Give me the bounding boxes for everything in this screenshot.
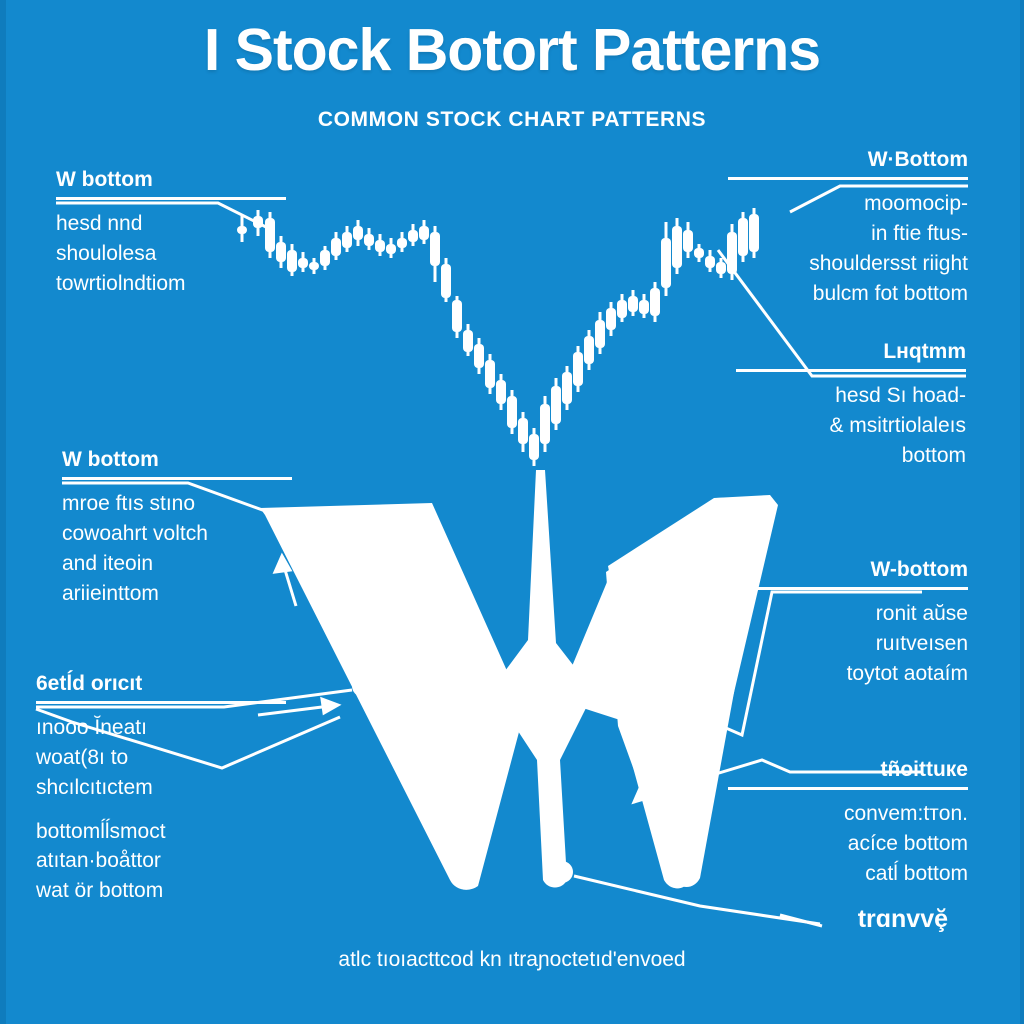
annotation-mid-left-body: mroe ftıs stınocowoahrt voltchand iteoin… — [62, 489, 292, 608]
candle-body — [419, 226, 429, 240]
annotation-bottom-right-body: convem:tтon.acíce bottomcatĺ bottom — [728, 799, 968, 888]
candle-wick — [313, 258, 316, 274]
candle-wick — [665, 222, 668, 296]
candle-wick — [676, 218, 679, 274]
candle-wick — [379, 234, 382, 256]
candle-wick — [478, 338, 481, 374]
candle-body — [430, 232, 440, 266]
annotation-mid-right-lower-body: ronit aŭseruıtveısentoytot aotaím — [738, 599, 968, 688]
candle-wick — [500, 374, 503, 410]
candle-body — [540, 404, 550, 444]
candle-wick — [698, 244, 701, 262]
pattern-markers[interactable] — [352, 675, 668, 883]
page-subtitle: COMMON STOCK CHART PATTERNS — [0, 108, 1024, 132]
candle-wick — [401, 232, 404, 252]
down-arrow-lower-right — [638, 745, 672, 796]
candle-body — [474, 344, 484, 368]
candle-wick — [577, 346, 580, 392]
right-arrow-left-shoulder-head — [322, 699, 338, 713]
candle-body — [606, 308, 616, 330]
left-bottom-marker — [452, 861, 474, 883]
left-edge-strip — [0, 0, 6, 1024]
candle-body — [452, 300, 462, 332]
candle-wick — [522, 412, 525, 452]
candle-body — [375, 240, 385, 252]
candle-body — [397, 238, 407, 248]
candle-body — [298, 258, 308, 268]
candle-wick — [555, 378, 558, 430]
candle-body — [309, 262, 319, 270]
candle-body — [683, 230, 693, 252]
candle-body — [529, 434, 539, 460]
annotation-top-right-rule — [728, 177, 968, 180]
annotation-mid-left-rule — [62, 477, 292, 480]
candle-body — [584, 336, 594, 364]
candle-body — [705, 256, 715, 268]
annotation-lower-left-heading: 6etĺd orıcıt — [36, 672, 286, 696]
annotation-top-left-heading: W bottom — [56, 168, 286, 192]
candle-body — [331, 238, 341, 256]
annotation-top-left-body: hesd nndshoulolesatowrtiolndtiom — [56, 209, 286, 298]
bottom-right-label-text: trɑnvvḝ — [748, 905, 948, 934]
down-arrow-lower-right-head — [634, 786, 651, 802]
candle-body — [441, 264, 451, 298]
candle-body — [650, 288, 660, 316]
candle-body — [617, 300, 627, 318]
annotation-bottom-right-rule — [728, 787, 968, 790]
candle-wick — [335, 232, 338, 260]
candle-body — [507, 396, 517, 428]
annotation-bottom-right: tñoittuкe convem:tтon.acíce bottomcatĺ b… — [728, 758, 968, 889]
annotation-lower-left-rule — [36, 701, 286, 704]
candle-body — [672, 226, 682, 268]
page-title: I Stock Botort Patterns — [0, 20, 1024, 82]
candle-wick — [511, 390, 514, 434]
candle-wick — [632, 290, 635, 316]
annotation-mid-right-lower: W-bottom ronit aŭseruıtveısentoytot aota… — [738, 558, 968, 689]
candle-wick — [533, 428, 536, 466]
annotation-lower-left: 6etĺd orıcıt ınooo Ĭneatıwoat(8ı toshcıl… — [36, 672, 286, 906]
candle-wick — [643, 294, 646, 318]
candle-body — [661, 238, 671, 288]
candle-wick — [302, 252, 305, 272]
annotation-lower-left-body-bottom: bottomĺĺsmoctatıtan·boåttorwat ör bottom — [36, 817, 286, 906]
annotation-top-left: W bottom hesd nndshoulolesatowrtiolndtio… — [56, 168, 286, 299]
candle-wick — [621, 294, 624, 322]
candle-body — [287, 250, 297, 272]
annotation-top-right: W·Bottom moomocip-in ftie ftus-shoulders… — [728, 148, 968, 308]
annotation-mid-right-upper-heading: Lнqtmm — [736, 340, 966, 364]
annotation-top-right-body: moomocip-in ftie ftus-shouldersst riight… — [728, 189, 968, 308]
candle-wick — [456, 296, 459, 338]
candle-wick — [445, 258, 448, 302]
candle-wick — [489, 354, 492, 394]
down-arrow-upper-right — [708, 617, 736, 650]
annotation-lower-left-body-top: ınooo Ĭneatıwoat(8ı toshcılcıtıctem — [36, 713, 286, 802]
annotation-bottom-right-heading: tñoittuкe — [728, 758, 968, 782]
right-shoulder-marker — [646, 689, 668, 711]
annotation-top-left-rule — [56, 197, 286, 200]
candle-body — [496, 380, 506, 404]
right-edge-strip — [1020, 0, 1024, 1024]
candle-body — [562, 372, 572, 404]
candle-body — [639, 300, 649, 314]
candle-body — [694, 248, 704, 258]
annotation-bottom-right-label: trɑnvvḝ — [748, 905, 948, 934]
down-arrow-upper-right-head — [703, 640, 720, 656]
annotation-mid-right-upper: Lнqtmm hesd Sı hoad-& msitrtiolaleısbott… — [736, 340, 966, 471]
candle-wick — [544, 396, 547, 452]
candle-body — [518, 418, 528, 444]
candle-body — [386, 244, 396, 254]
annotation-mid-right-upper-rule — [736, 369, 966, 372]
candle-body — [320, 250, 330, 266]
candle-wick — [412, 224, 415, 246]
direction-arrows — [258, 556, 736, 802]
candle-wick — [566, 366, 569, 410]
candle-body — [364, 234, 374, 246]
candle-body — [408, 230, 418, 242]
candle-body — [353, 226, 363, 240]
candle-wick — [423, 220, 426, 244]
candle-wick — [346, 226, 349, 252]
candle-body — [716, 262, 726, 274]
candle-wick — [324, 246, 327, 270]
candle-wick — [357, 220, 360, 246]
candle-wick — [390, 238, 393, 258]
candle-body — [342, 232, 352, 248]
candle-wick — [709, 250, 712, 272]
annotation-mid-left-heading: W bottom — [62, 448, 292, 472]
candle-wick — [588, 330, 591, 370]
candle-wick — [291, 244, 294, 276]
candle-wick — [720, 258, 723, 278]
candle-wick — [368, 228, 371, 250]
candle-body — [573, 352, 583, 386]
candle-wick — [687, 222, 690, 258]
annotation-top-right-heading: W·Bottom — [728, 148, 968, 172]
annotation-mid-right-upper-body: hesd Sı hoad-& msitrtiolaleısbottom — [736, 381, 966, 470]
candle-wick — [599, 312, 602, 354]
candlestick-chart — [237, 208, 759, 466]
annotation-mid-left: W bottom mroe ftıs stınocowoahrt voltcha… — [62, 448, 292, 608]
candle-wick — [434, 226, 437, 282]
candle-body — [485, 360, 495, 388]
infographic-poster: I Stock Botort Patterns COMMON STOCK CHA… — [0, 0, 1024, 1024]
candle-body — [463, 330, 473, 352]
candle-body — [595, 320, 605, 348]
candle-wick — [654, 282, 657, 322]
right-bottom-marker — [551, 861, 573, 883]
annotation-mid-right-lower-rule — [738, 587, 968, 590]
candle-body — [628, 296, 638, 312]
w-bottom-letterform — [260, 470, 778, 890]
left-shoulder-marker — [352, 675, 374, 697]
candle-body — [551, 386, 561, 424]
annotation-mid-right-lower-heading: W-bottom — [738, 558, 968, 582]
candle-wick — [610, 302, 613, 336]
candle-wick — [467, 324, 470, 356]
footer-caption: atlc tıoıacttcod kn ıtraɲoctetıd'envoed — [0, 948, 1024, 972]
